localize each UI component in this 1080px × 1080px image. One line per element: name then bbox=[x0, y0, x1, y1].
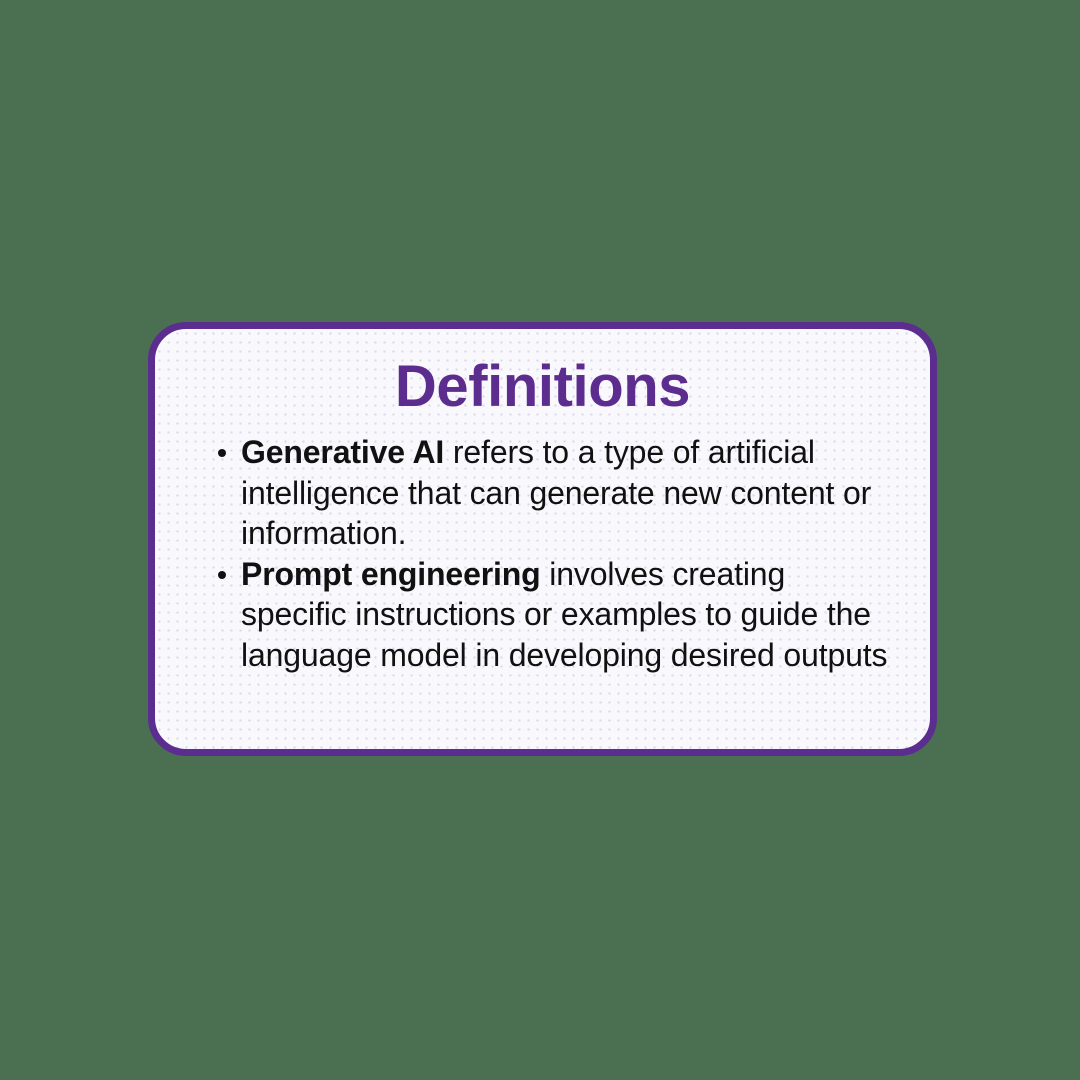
definition-term: Generative AI bbox=[241, 434, 444, 470]
definitions-card: Definitions Generative AI refers to a ty… bbox=[148, 322, 937, 756]
definitions-list: Generative AI refers to a type of artifi… bbox=[212, 432, 892, 675]
slide-canvas: Definitions Generative AI refers to a ty… bbox=[0, 0, 1080, 1080]
definition-term: Prompt engineering bbox=[241, 556, 541, 592]
list-item: Prompt engineering involves creating spe… bbox=[212, 554, 892, 676]
page-title: Definitions bbox=[155, 356, 930, 418]
bullet-dot-icon bbox=[218, 449, 226, 457]
bullet-dot-icon bbox=[218, 571, 226, 579]
list-item: Generative AI refers to a type of artifi… bbox=[212, 432, 892, 554]
